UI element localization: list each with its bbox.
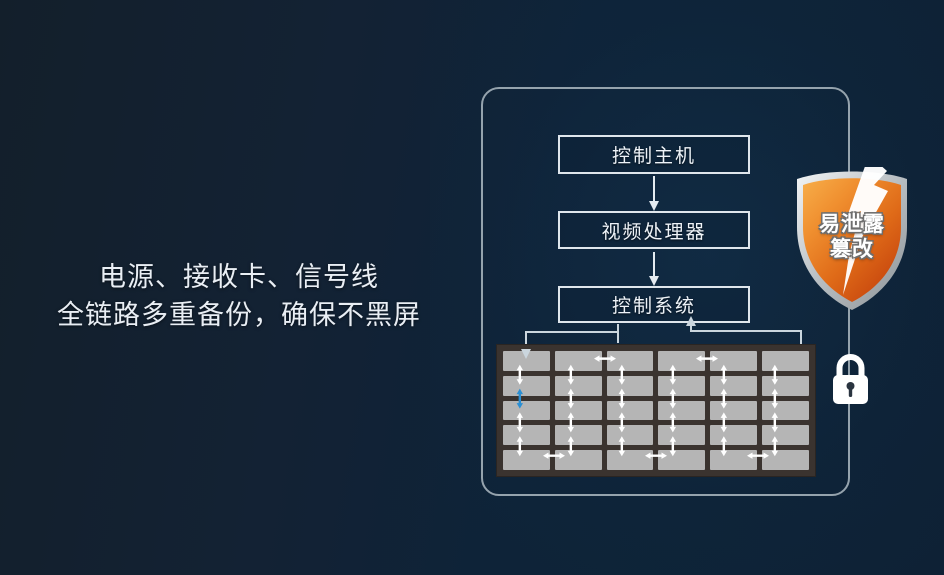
led-tile bbox=[607, 401, 654, 421]
flow-box-control-host-label: 控制主机 bbox=[612, 141, 696, 168]
led-tile bbox=[555, 351, 602, 371]
led-tile bbox=[658, 376, 705, 396]
led-tile bbox=[503, 450, 550, 470]
led-tile bbox=[762, 425, 809, 445]
flow-box-control-host[interactable]: 控制主机 bbox=[558, 135, 750, 174]
flow-box-control-system[interactable]: 控制系统 bbox=[558, 286, 750, 323]
caption-text: 电源、接收卡、信号线 全链路多重备份，确保不黑屏 bbox=[24, 258, 454, 335]
flow-box-video-processor[interactable]: 视频处理器 bbox=[558, 211, 750, 249]
led-tile bbox=[710, 401, 757, 421]
shield-label-line-1: 易泄露 bbox=[791, 213, 913, 238]
led-tile bbox=[710, 376, 757, 396]
led-tile bbox=[710, 351, 757, 371]
arrow-down-into-panel-icon bbox=[521, 349, 531, 359]
led-tile bbox=[607, 425, 654, 445]
caption-line-1: 电源、接收卡、信号线 bbox=[24, 258, 454, 296]
led-tile bbox=[503, 376, 550, 396]
wire-panel-to-control-segment-2 bbox=[690, 330, 802, 332]
caption-line-2: 全链路多重备份，确保不黑屏 bbox=[24, 296, 454, 334]
led-tile bbox=[710, 425, 757, 445]
arrow-down-host-to-video-icon bbox=[653, 176, 655, 202]
lock-icon bbox=[828, 352, 873, 408]
led-tile bbox=[607, 351, 654, 371]
led-tile bbox=[658, 401, 705, 421]
led-tile bbox=[762, 401, 809, 421]
led-tile bbox=[503, 425, 550, 445]
led-tile bbox=[607, 450, 654, 470]
led-tile bbox=[555, 425, 602, 445]
arrow-down-video-to-control-icon bbox=[653, 252, 655, 277]
led-tile bbox=[658, 450, 705, 470]
shield-label-line-2: 篡改 bbox=[791, 238, 913, 263]
led-tile bbox=[762, 351, 809, 371]
led-tile bbox=[658, 425, 705, 445]
led-display-panel[interactable] bbox=[497, 345, 815, 476]
lock-keyslot bbox=[849, 386, 852, 397]
led-tile bbox=[555, 450, 602, 470]
arrow-up-into-control-system-icon bbox=[686, 316, 696, 326]
led-tile bbox=[762, 450, 809, 470]
wire-control-to-panel-segment-1 bbox=[617, 324, 619, 343]
led-tile bbox=[762, 376, 809, 396]
led-tile bbox=[555, 401, 602, 421]
led-tile bbox=[503, 401, 550, 421]
flow-box-video-processor-label: 视频处理器 bbox=[601, 217, 706, 244]
slide-canvas: 电源、接收卡、信号线 全链路多重备份，确保不黑屏 控制主机 视频处理器 控制系统 bbox=[0, 0, 944, 575]
led-tile bbox=[607, 376, 654, 396]
flow-box-control-system-label: 控制系统 bbox=[612, 291, 696, 318]
led-tile bbox=[555, 376, 602, 396]
wire-control-to-panel-segment-2 bbox=[525, 331, 619, 333]
wire-panel-to-control-segment-3 bbox=[690, 325, 692, 332]
led-tile bbox=[658, 351, 705, 371]
lock-shackle bbox=[840, 357, 862, 376]
led-tile bbox=[710, 450, 757, 470]
shield-label: 易泄露 篡改 bbox=[791, 213, 913, 263]
